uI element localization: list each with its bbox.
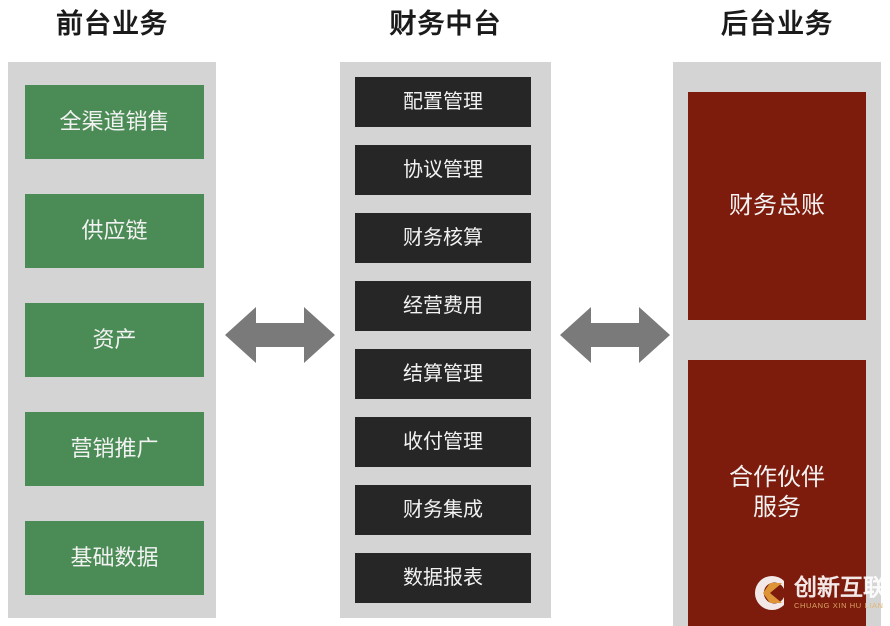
finance-platform-item-3[interactable]: 经营费用 [355, 281, 531, 331]
column-title-front-office: 前台业务 [8, 4, 216, 44]
front-office-item-1[interactable]: 供应链 [25, 194, 204, 268]
front-office-item-2[interactable]: 资产 [25, 303, 204, 377]
finance-platform-item-0[interactable]: 配置管理 [355, 77, 531, 127]
front-office-item-4[interactable]: 基础数据 [25, 521, 204, 595]
back-office-item-1[interactable]: 合作伙伴 服务 [688, 360, 866, 626]
finance-platform-item-2[interactable]: 财务核算 [355, 213, 531, 263]
back-office-item-1-line-1: 合作伙伴 [729, 463, 825, 493]
finance-platform-item-4[interactable]: 结算管理 [355, 349, 531, 399]
column-title-back-office: 后台业务 [673, 4, 881, 44]
back-office-item-0[interactable]: 财务总账 [688, 92, 866, 320]
finance-platform-item-5[interactable]: 收付管理 [355, 417, 531, 467]
column-back-office: 财务总账 合作伙伴 服务 [673, 62, 881, 626]
finance-platform-item-7[interactable]: 数据报表 [355, 553, 531, 603]
finance-platform-item-6[interactable]: 财务集成 [355, 485, 531, 535]
back-office-item-1-line-2: 服务 [729, 493, 825, 523]
front-office-item-0[interactable]: 全渠道销售 [25, 85, 204, 159]
column-front-office: 全渠道销售 供应链 资产 营销推广 基础数据 [8, 62, 216, 618]
column-finance-middle-platform: 配置管理 协议管理 财务核算 经营费用 结算管理 收付管理 财务集成 数据报表 [340, 62, 551, 618]
finance-platform-item-1[interactable]: 协议管理 [355, 145, 531, 195]
double-arrow-icon-middle-to-back [560, 304, 670, 366]
column-title-finance-middle-platform: 财务中台 [340, 4, 551, 44]
double-arrow-icon-front-to-middle [225, 304, 335, 366]
three-column-architecture-diagram: 前台业务 财务中台 后台业务 全渠道销售 供应链 资产 营销推广 基础数据 配置… [0, 0, 890, 626]
front-office-item-3[interactable]: 营销推广 [25, 412, 204, 486]
